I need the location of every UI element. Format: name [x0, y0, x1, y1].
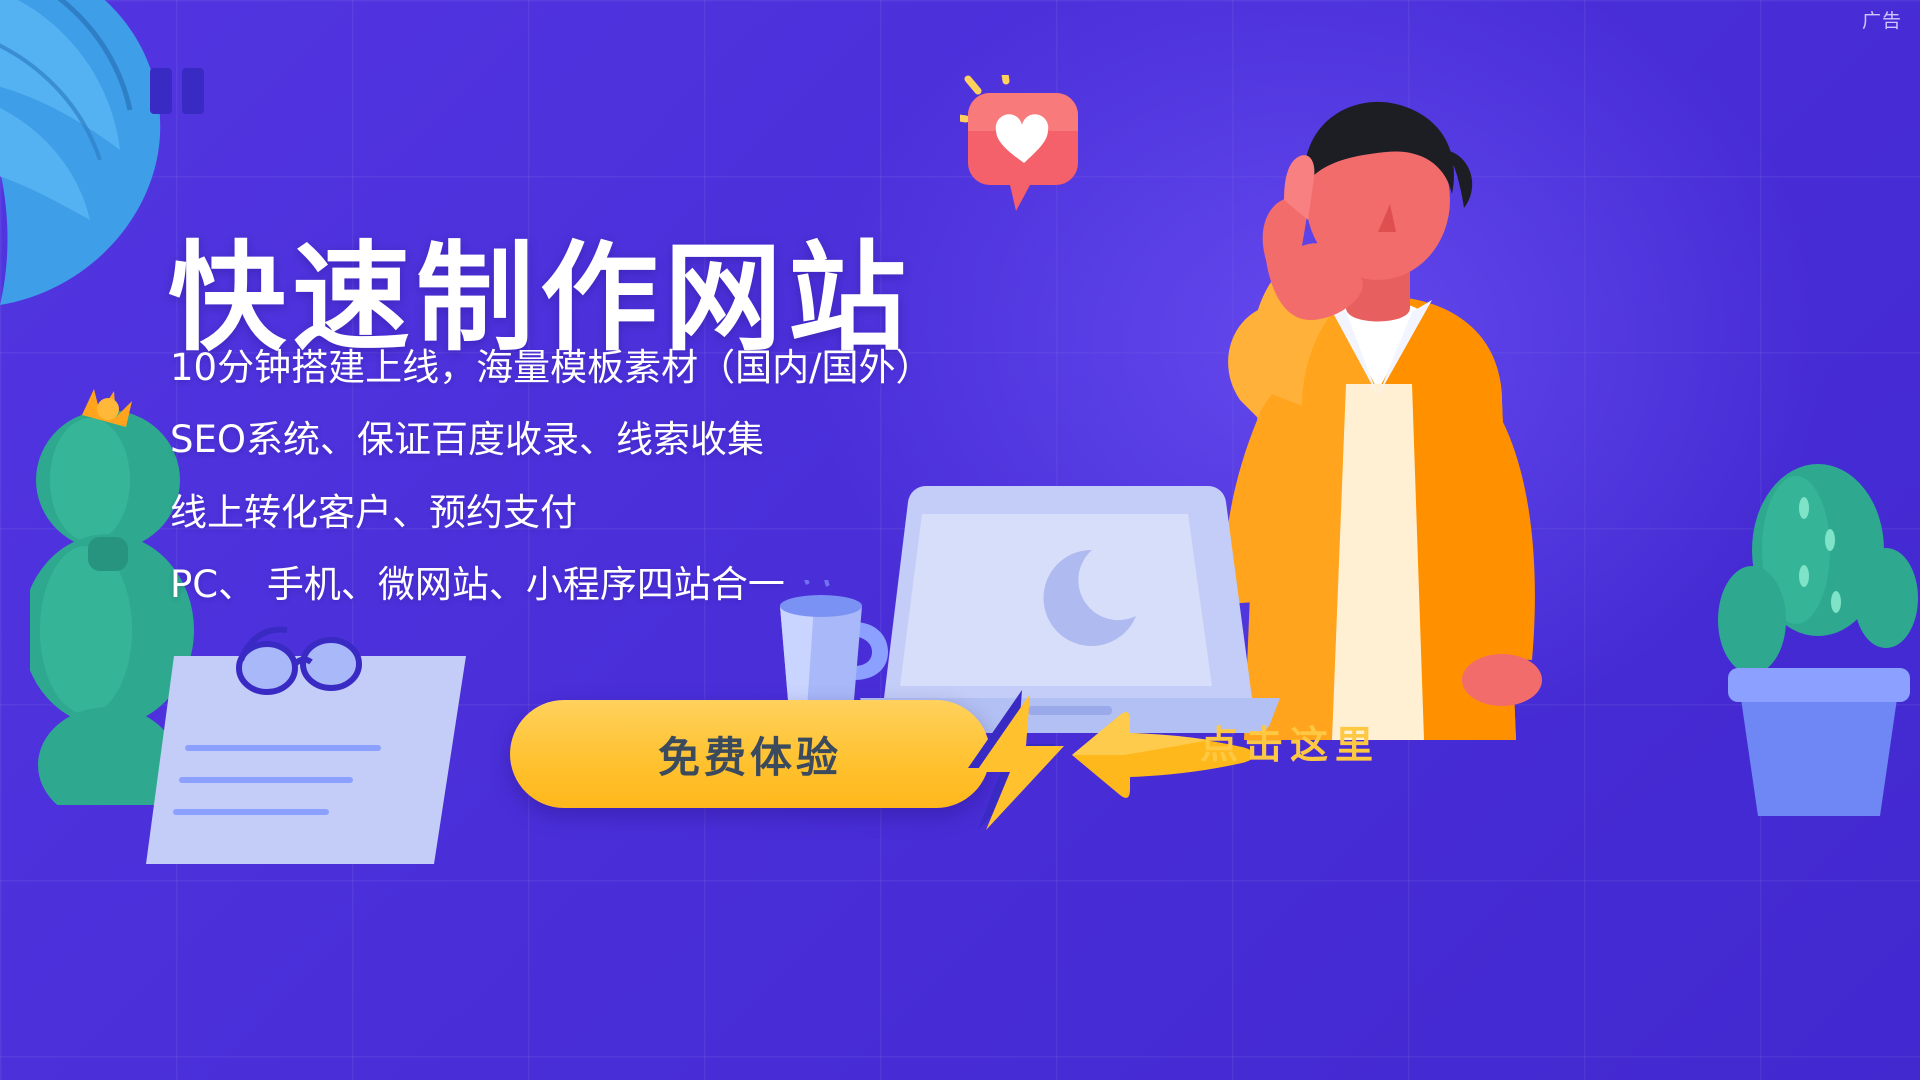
feature-line: PC、 手机、微网站、小程序四站合一: [170, 562, 933, 608]
free-trial-button-label: 免费体验: [658, 724, 842, 785]
quote-mark-icon: [148, 60, 218, 130]
click-here-callout: 点击这里: [1200, 714, 1380, 769]
glasses-icon: [235, 620, 365, 700]
feature-line: 10分钟搭建上线，海量模板素材（国内/国外）: [170, 345, 933, 391]
cactus-right-icon: [1700, 430, 1920, 820]
free-trial-button[interactable]: 免费体验: [510, 700, 990, 808]
advertisement-banner: 广告 快速制作网站 10分钟搭建上线，海量模板素材（国内/国外） SEO系统、保…: [0, 0, 1920, 1080]
lightning-bolt-icon: [960, 690, 1070, 830]
page-title: 快速制作网站: [168, 237, 912, 361]
background-glow: [768, 0, 1868, 792]
feature-line: SEO系统、保证百度收录、线索收集: [170, 417, 933, 463]
feature-list: 10分钟搭建上线，海量模板素材（国内/国外） SEO系统、保证百度收录、线索收集…: [170, 345, 933, 608]
ad-label: 广告: [1862, 6, 1902, 33]
heart-icon: [960, 75, 1090, 225]
feature-line: 线上转化客户、预约支付: [170, 490, 933, 536]
paper-sheet-illustration: [140, 640, 500, 870]
